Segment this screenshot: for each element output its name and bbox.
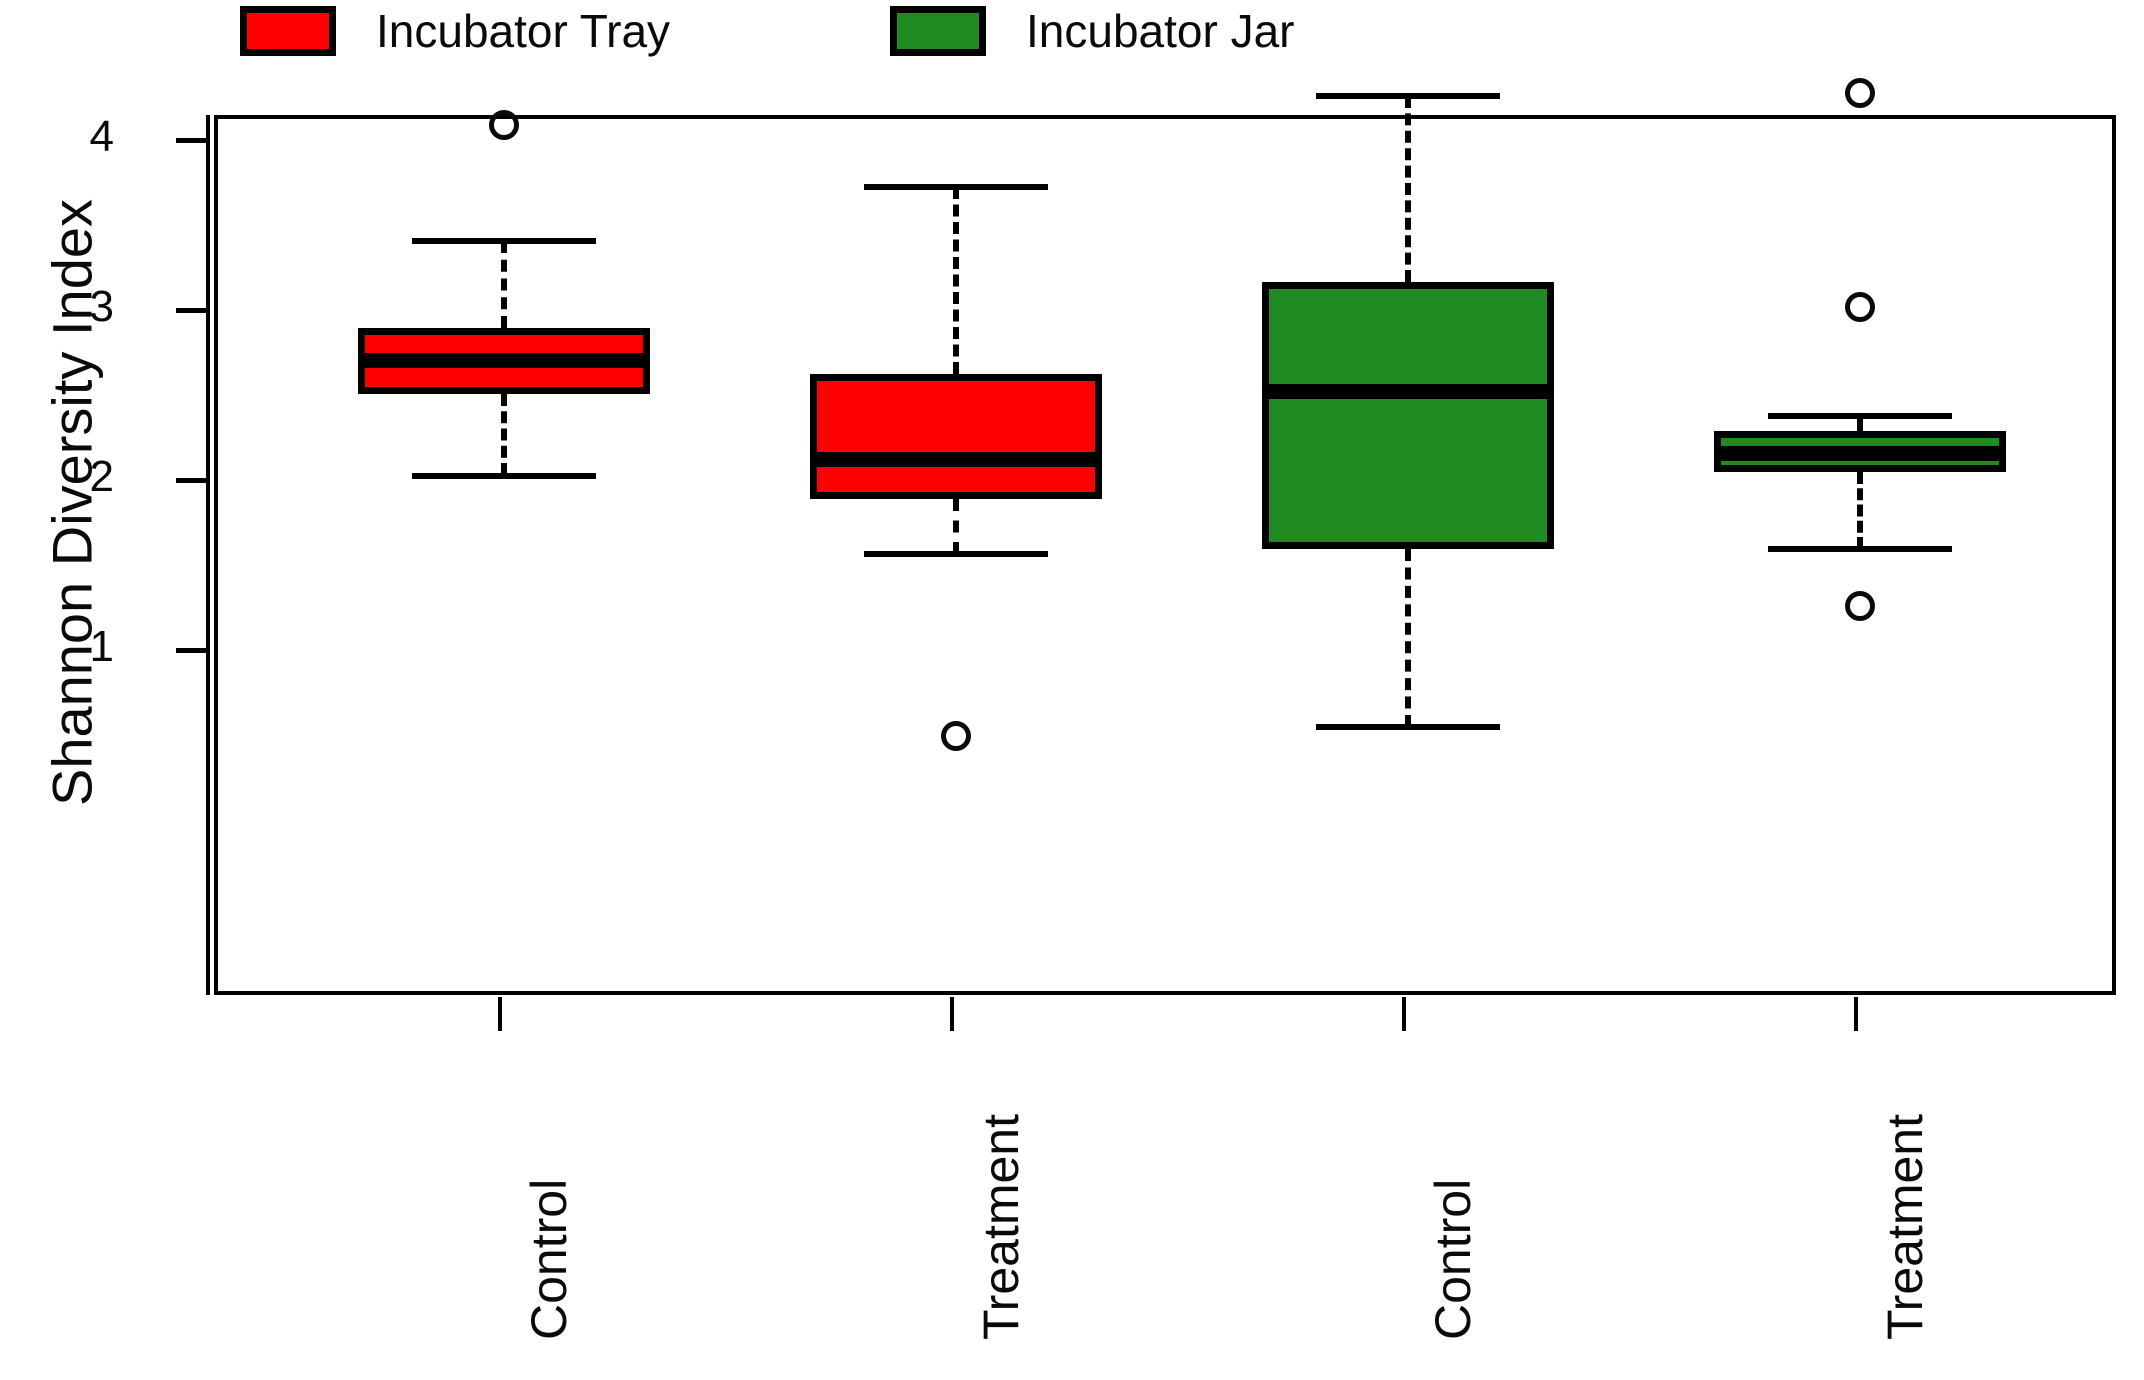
x-tick-mark-1: [950, 997, 954, 1031]
boxplot-0-median-line: [358, 353, 650, 368]
boxplot-1-box[interactable]: [810, 374, 1102, 500]
legend-swatch-incubator-jar: [890, 6, 986, 56]
y-tick-mark-1: [176, 648, 210, 653]
boxplot-3-median-line: [1714, 446, 2006, 461]
boxplot-2-upper-cap: [1316, 93, 1500, 99]
boxplot-3-outlier-1[interactable]: [1845, 292, 1875, 322]
y-tick-mark-3: [176, 308, 210, 313]
boxplot-3-upper-cap: [1768, 413, 1952, 419]
boxplot-2-box[interactable]: [1262, 282, 1554, 549]
boxplot-0-outlier-0[interactable]: [489, 110, 519, 140]
y-tick-mark-4: [176, 138, 210, 143]
legend-item-incubator-jar: Incubator Jar: [890, 4, 1294, 58]
boxplot-3-lower-whisker: [1857, 472, 1863, 549]
x-tick-mark-2: [1402, 997, 1406, 1031]
boxplot-2-lower-cap: [1316, 724, 1500, 730]
y-axis-line: [206, 115, 210, 995]
boxplot-0-upper-cap: [412, 238, 596, 244]
boxplot-2-upper-whisker: [1405, 96, 1411, 281]
plot-area: [214, 115, 2116, 995]
x-tick-mark-0: [498, 997, 502, 1031]
boxplot-2-lower-whisker: [1405, 549, 1411, 728]
boxplot-0-lower-whisker: [501, 394, 507, 476]
chart-figure: Incubator Tray Incubator Jar 4321 Shanno…: [0, 0, 2144, 1380]
boxplot-1-median-line: [810, 452, 1102, 467]
boxplot-0-upper-whisker: [501, 241, 507, 328]
x-tick-label-3: Treatment: [1876, 1114, 1934, 1340]
boxplot-3-lower-cap: [1768, 546, 1952, 552]
legend-item-incubator-tray: Incubator Tray: [240, 4, 670, 58]
x-tick-label-2: Control: [1424, 1179, 1482, 1340]
legend-swatch-incubator-tray: [240, 6, 336, 56]
boxplot-2-median-line: [1262, 384, 1554, 399]
legend-label-incubator-tray: Incubator Tray: [376, 4, 670, 58]
chart-legend: Incubator Tray Incubator Jar: [0, 0, 2144, 72]
boxplot-1-lower-whisker: [953, 499, 959, 553]
boxplot-1-upper-whisker: [953, 187, 959, 374]
y-tick-mark-2: [176, 478, 210, 483]
boxplot-1-lower-cap: [864, 551, 1048, 557]
x-tick-mark-3: [1854, 997, 1858, 1031]
x-tick-label-0: Control: [520, 1179, 578, 1340]
boxplot-1-outlier-0[interactable]: [941, 721, 971, 751]
boxplot-3-outlier-2[interactable]: [1845, 591, 1875, 621]
boxplot-1-upper-cap: [864, 184, 1048, 190]
boxplot-3-outlier-0[interactable]: [1845, 78, 1875, 108]
y-axis-title: Shannon Diversity Index: [40, 143, 105, 863]
boxplot-0-lower-cap: [412, 473, 596, 479]
boxplot-layer: [218, 119, 2112, 991]
legend-label-incubator-jar: Incubator Jar: [1026, 4, 1294, 58]
x-tick-label-1: Treatment: [972, 1114, 1030, 1340]
